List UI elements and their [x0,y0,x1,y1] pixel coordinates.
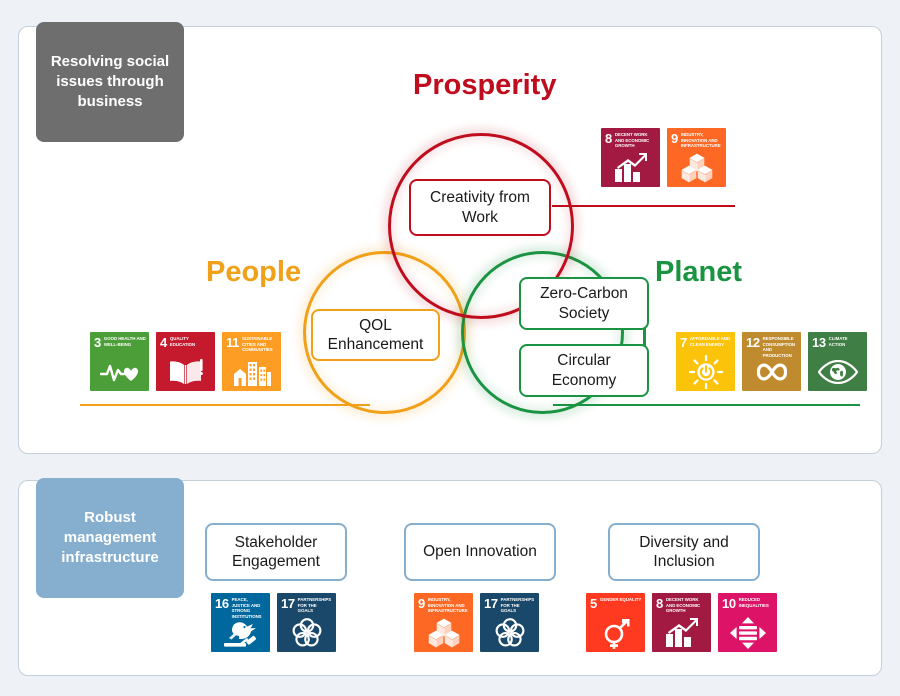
sdg-goal-11-icon: 11Sustainable Cities and Communities [222,332,281,391]
sdg-number: 7 [680,336,687,349]
initiative-open-innovation[interactable]: Open Innovation [404,523,556,581]
equal-arrows-icon [718,615,777,651]
sdg-number: 10 [722,597,736,610]
open-innovation-sdg-row: 9Industry, Innovation and Infrastructure… [414,593,539,652]
sdg-number: 16 [215,597,229,610]
cubes-icon [414,615,473,651]
sdg-number: 17 [281,597,295,610]
infinity-icon [742,354,801,390]
sdg-goal-16-icon: 16Peace, Justice and Strong Institutions [211,593,270,652]
sdg-goal-9-icon: 9Industry, Innovation and Infrastructure [667,128,726,187]
people-sdg-row: 3Good Health and Well-Being4Quality Educ… [90,332,281,391]
initiative-diversity-and-inclusion[interactable]: Diversity and Inclusion [608,523,760,581]
sdg-goal-4-icon: 4Quality Education [156,332,215,391]
rings-icon [277,615,336,651]
sdg-goal-8-icon: 8Decent Work and Economic Growth [652,593,711,652]
prosperity-connector-line [552,205,735,207]
initiative-qol-enhancement[interactable]: QOL Enhancement [311,309,440,361]
sdg-goal-8-icon: 8Decent Work and Economic Growth [601,128,660,187]
sdg-number: 13 [812,336,826,349]
sdg-number: 17 [484,597,498,610]
sdg-number: 11 [226,336,239,349]
stakeholder-sdg-row: 16Peace, Justice and Strong Institutions… [211,593,336,652]
sdg-number: 8 [605,132,612,145]
management-infrastructure-tag: Robust management infrastructure [36,478,184,598]
initiative-stakeholder-engagement[interactable]: Stakeholder Engagement [205,523,347,581]
sdg-goal-17-icon: 17Partnerships for the Goals [480,593,539,652]
sdg-title: Industry, Innovation and Infrastructure [681,132,723,149]
initiative-circular-economy[interactable]: Circular Economy [519,344,649,397]
growth-chart-icon [652,615,711,651]
sdg-number: 12 [746,336,760,349]
sdg-goal-5-icon: 5Gender Equality [586,593,645,652]
sdg-goal-17-icon: 17Partnerships for the Goals [277,593,336,652]
cubes-icon [667,150,726,186]
diagram-canvas: Resolving social issues through business… [0,0,900,696]
sdg-goal-10-icon: 10Reduced Inequalities [718,593,777,652]
sdg-title: Partnerships for the Goals [501,597,536,614]
diversity-sdg-row: 5Gender Equality8Decent Work and Economi… [586,593,777,652]
rings-icon [480,615,539,651]
sdg-title: Good Health and Well-Being [104,336,146,347]
sun-power-icon [676,354,735,390]
people-heading: People [206,256,301,289]
social-issues-tag: Resolving social issues through business [36,22,184,142]
sdg-title: Reduced Inequalities [739,597,774,608]
sdg-number: 3 [94,336,101,349]
heartbeat-icon [90,354,149,390]
sdg-goal-3-icon: 3Good Health and Well-Being [90,332,149,391]
sdg-goal-7-icon: 7Affordable and Clean Energy [676,332,735,391]
sdg-number: 8 [656,597,663,610]
sdg-goal-12-icon: 12Responsible Consumption and Production [742,332,801,391]
planet-connector-line [553,404,860,406]
sdg-title: Quality Education [170,336,212,347]
sdg-goal-9-icon: 9Industry, Innovation and Infrastructure [414,593,473,652]
eye-earth-icon [808,354,867,390]
sdg-title: Decent Work and Economic Growth [615,132,657,149]
sdg-title: Sustainable Cities and Communities [242,336,278,353]
growth-chart-icon [601,150,660,186]
prosperity-sdg-row: 8Decent Work and Economic Growth9Industr… [601,128,726,187]
sdg-title: Industry, Innovation and Infrastructure [428,597,470,614]
sdg-title: Partnerships for the Goals [298,597,333,614]
gender-equality-icon [586,615,645,651]
sdg-title: Gender Equality [600,597,641,603]
open-book-icon [156,354,215,390]
planet-heading: Planet [655,256,742,289]
sdg-number: 4 [160,336,167,349]
prosperity-heading: Prosperity [413,69,556,102]
sdg-number: 9 [671,132,678,145]
city-buildings-icon [222,354,281,390]
dove-gavel-icon [211,615,270,651]
sdg-goal-13-icon: 13Climate Action [808,332,867,391]
sdg-title: Climate Action [829,336,864,347]
sdg-number: 9 [418,597,425,610]
sdg-title: Affordable and Clean Energy [690,336,732,347]
people-connector-line [80,404,370,406]
sdg-number: 5 [590,597,597,610]
planet-sdg-row: 7Affordable and Clean Energy12Responsibl… [676,332,867,391]
initiative-zero-carbon-society[interactable]: Zero-Carbon Society [519,277,649,330]
sdg-title: Decent Work and Economic Growth [666,597,708,614]
initiative-creativity-from-work[interactable]: Creativity from Work [409,179,551,236]
